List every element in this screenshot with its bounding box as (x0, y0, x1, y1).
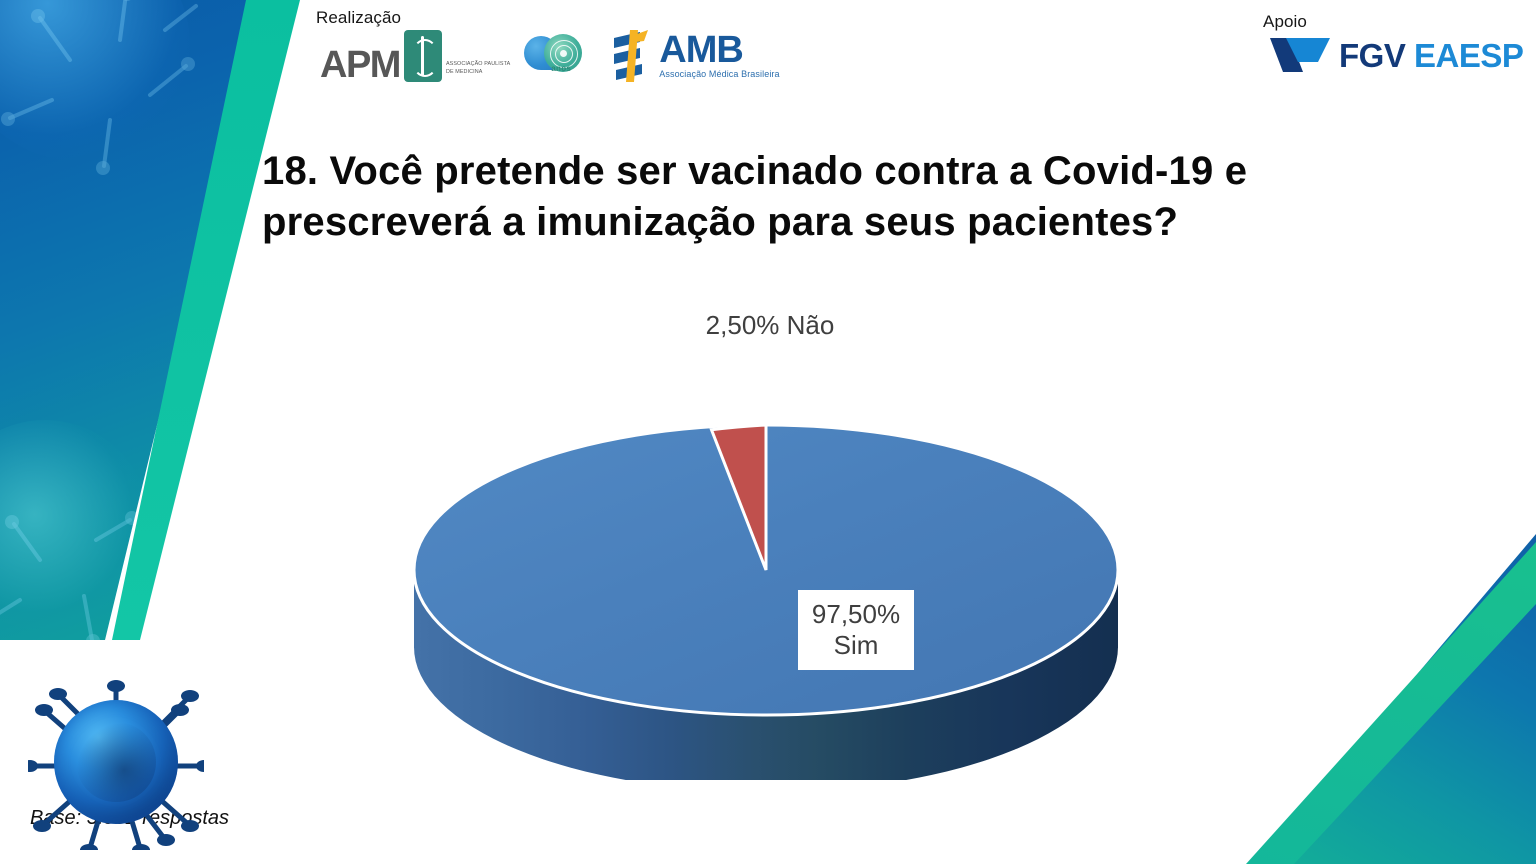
apm-caduceus-icon (404, 30, 442, 82)
fgv-logo-text-part2: EAESP (1414, 37, 1523, 74)
anos-logo: anos (524, 34, 584, 78)
pie-slice-label-sim-percent: 97,50% (812, 599, 900, 630)
amb-logo-text-block: AMB Associação Médica Brasileira (659, 33, 779, 79)
pie-3d-svg (410, 362, 1122, 780)
amb-logo-text: AMB (659, 33, 779, 68)
virus-core-icon (54, 700, 178, 824)
left-decorative-banner (0, 0, 330, 640)
page-title: 18. Você pretende ser vacinado contra a … (262, 146, 1412, 248)
fgv-chevron-icon (1270, 38, 1330, 72)
apm-logo: APM ASSOCIAÇÃO PAULISTA DE MEDICINA (320, 30, 510, 82)
sponsor-logos-left: APM ASSOCIAÇÃO PAULISTA DE MEDICINA anos… (320, 28, 780, 84)
fgv-eaesp-logo: FGV EAESP (1270, 38, 1523, 72)
virus-spikes-icon (0, 0, 330, 640)
pie-slice-label-sim-name: Sim (834, 630, 879, 661)
apoio-label: Apoio (1263, 12, 1307, 32)
pie-slice-label-sim: 97,50% Sim (798, 590, 914, 670)
realizacao-label: Realização (316, 8, 401, 28)
pie-graphic: 97,50% Sim (410, 362, 1122, 780)
virus-particle-icon (28, 674, 204, 850)
fgv-logo-text: FGV EAESP (1339, 39, 1523, 72)
apm-subtitle-line2: DE MEDICINA (446, 69, 510, 77)
pie-chart: 2,50% Não (410, 310, 1130, 790)
apm-logo-text: APM (320, 48, 400, 82)
apm-logo-subtitle: ASSOCIAÇÃO PAULISTA DE MEDICINA (446, 61, 510, 82)
pie-slice-label-nao: 2,50% Não (410, 310, 1130, 341)
apm-subtitle-line1: ASSOCIAÇÃO PAULISTA (446, 61, 510, 69)
fgv-logo-text-part1: FGV (1339, 37, 1405, 74)
anos-logo-text: anos (551, 64, 571, 73)
amb-logo: AMB Associação Médica Brasileira (610, 28, 779, 84)
right-decorative-banner (1236, 534, 1536, 864)
amb-ribbon-caduceus-icon (610, 28, 654, 84)
amb-logo-subtitle: Associação Médica Brasileira (659, 69, 779, 79)
